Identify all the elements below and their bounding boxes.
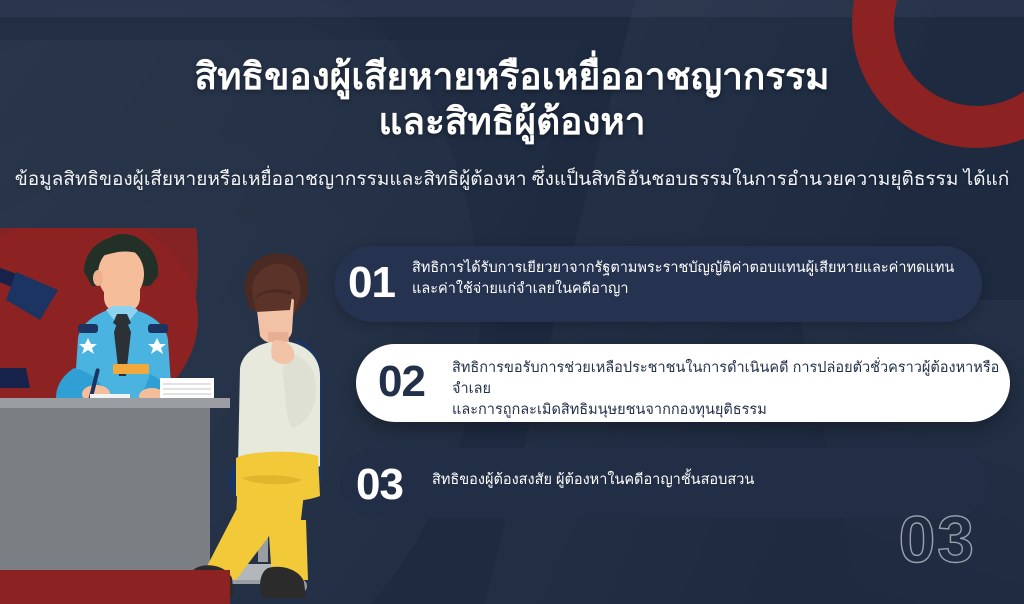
- police-interview-illustration: [0, 228, 340, 604]
- slide-number-watermark: 03: [899, 506, 976, 572]
- slide-canvas: สิทธิของผู้เสียหายหรือเหยื่ออาชญากรรม แล…: [0, 0, 1024, 604]
- slide-title: สิทธิของผู้เสียหายหรือเหยื่ออาชญากรรม แล…: [0, 54, 1024, 144]
- item-number-02: 02: [378, 360, 425, 404]
- item-text-01: สิทธิการได้รับการเยียวยาจากรัฐตามพระราชบ…: [412, 258, 972, 300]
- item-text-03: สิทธิของผู้ต้องสงสัย ผู้ต้องหาในคดีอาญาช…: [432, 470, 992, 491]
- slide-subtitle: ข้อมูลสิทธิของผู้เสียหายหรือเหยื่ออาชญาก…: [0, 168, 1024, 193]
- item-number-01: 01: [348, 261, 395, 305]
- item-number-03: 03: [356, 463, 403, 507]
- item-text-02: สิทธิการขอรับการช่วยเหลือประชาชนในการดำเ…: [452, 358, 1010, 421]
